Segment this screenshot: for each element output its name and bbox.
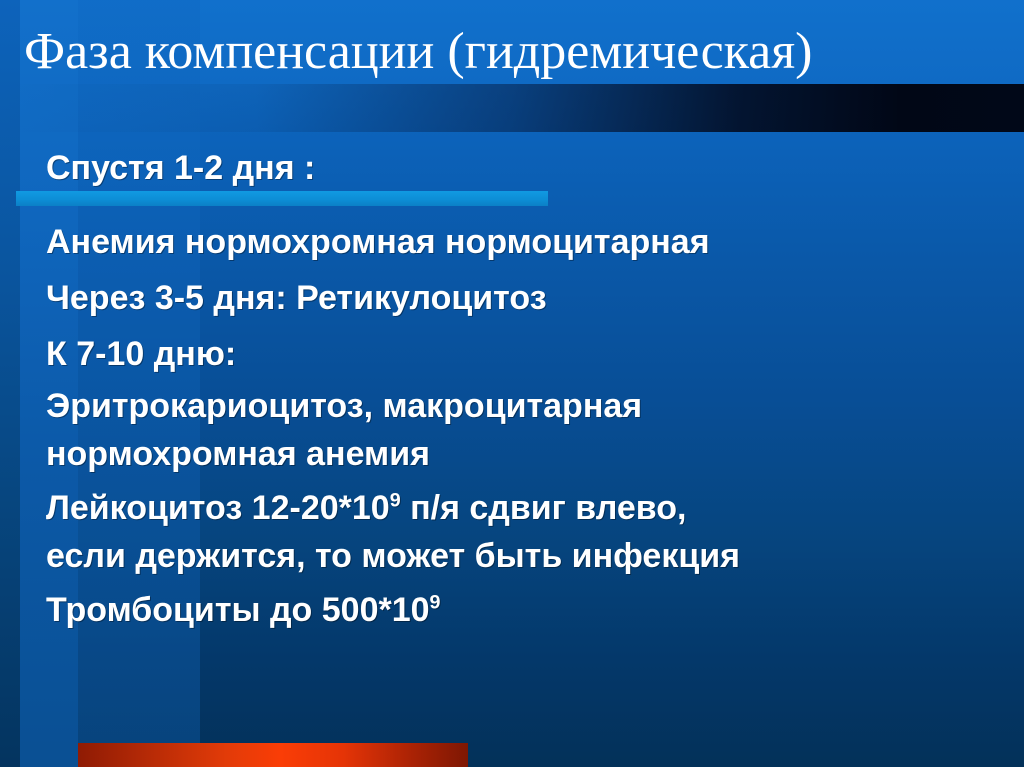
bullet-line-9: Тромбоциты до 500*109	[16, 586, 1016, 634]
bullet-line-1: Спустя 1-2 дня :	[16, 140, 1016, 196]
platelets-text: Тромбоциты до 500*10	[46, 591, 430, 629]
bullet-line-5: Эритрокариоцитоз, макроцитарная	[16, 382, 1016, 430]
leukocytosis-suffix: п/я сдвиг влево,	[401, 489, 687, 527]
bullet-line-6: нормохромная анемия	[16, 430, 1016, 478]
red-accent-bar	[78, 743, 468, 767]
platelets-exponent: 9	[430, 592, 441, 614]
bullet-line-4: К 7-10 дню:	[16, 326, 1016, 382]
background-dark-band	[0, 84, 1024, 132]
leukocytosis-exponent: 9	[390, 490, 401, 512]
bullet-line-8: если держится, то может быть инфекция	[16, 532, 1016, 580]
slide-title: Фаза компенсации (гидремическая)	[24, 22, 1004, 82]
bullet-line-7: Лейкоцитоз 12-20*109 п/я сдвиг влево,	[16, 484, 1016, 532]
bullet-line-2: Анемия нормохромная нормоцитарная	[16, 214, 1016, 270]
presentation-slide: Фаза компенсации (гидремическая) Спустя …	[0, 0, 1024, 767]
bullet-line-3: Через 3-5 дня: Ретикулоцитоз	[16, 270, 1016, 326]
slide-body: Спустя 1-2 дня : Анемия нормохромная нор…	[16, 140, 1016, 634]
leukocytosis-text: Лейкоцитоз 12-20*10	[46, 489, 390, 527]
spacer-after-line-1	[16, 196, 1016, 214]
